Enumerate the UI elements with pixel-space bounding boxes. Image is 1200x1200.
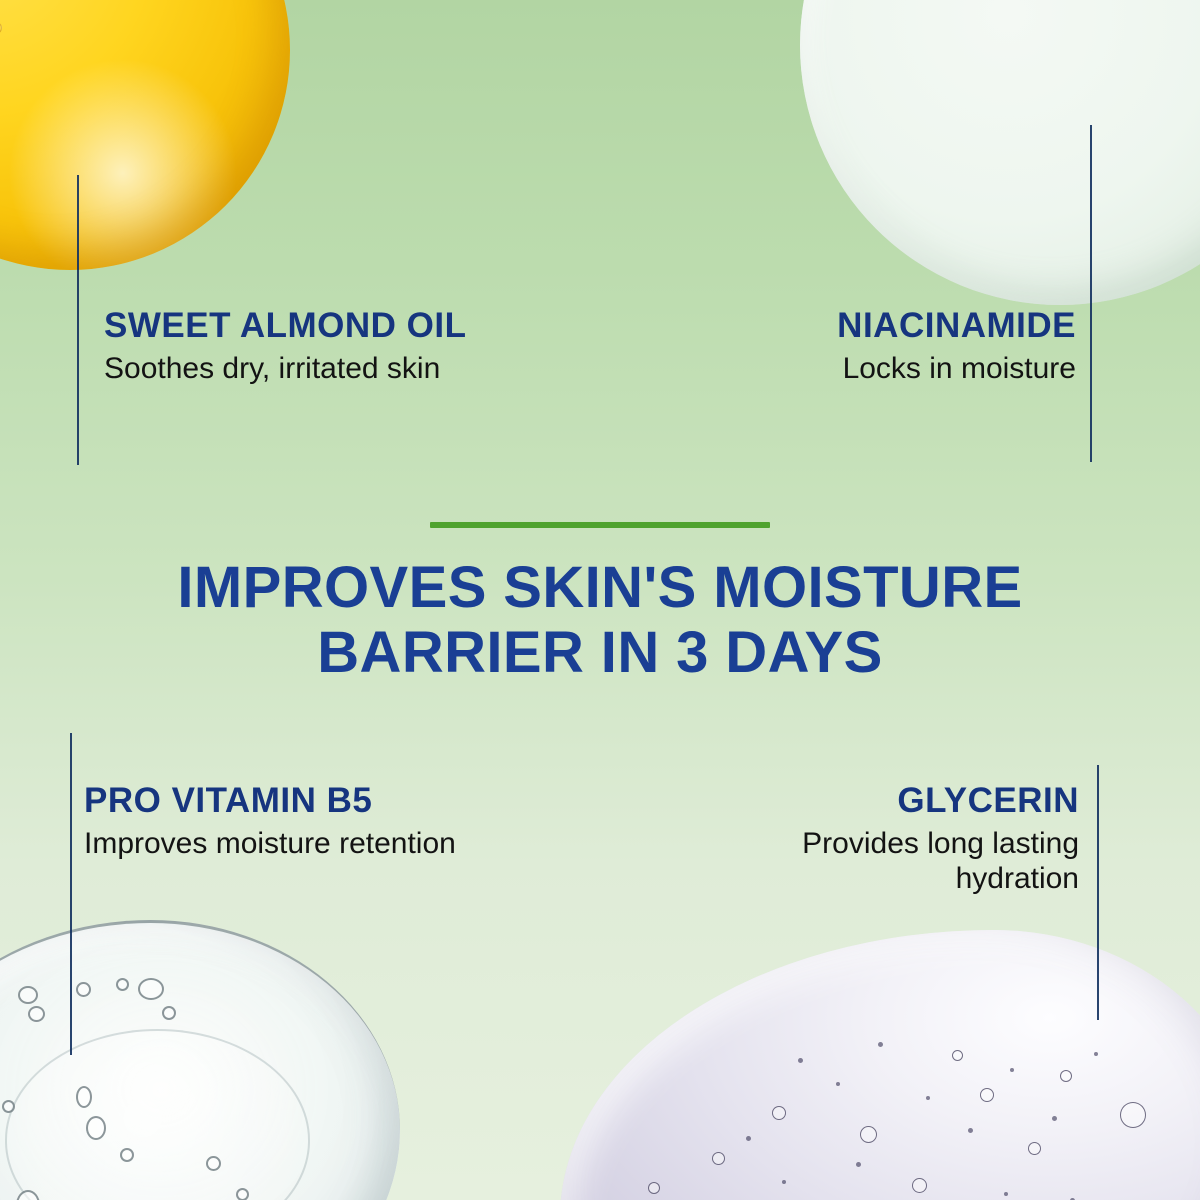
serum-bubble [712,1152,725,1165]
serum-speck [968,1128,973,1133]
gel-bubble [116,978,129,991]
gel-bubble [138,978,164,1000]
gel-bubble [28,1006,45,1022]
serum-bubble [1120,1102,1146,1128]
serum-speck [1052,1116,1057,1121]
serum-speck [836,1082,840,1086]
serum-blob-main [560,930,1200,1200]
callout-pro-vitamin-b5: PRO VITAMIN B5 Improves moisture retenti… [84,783,456,861]
headline-line-2: BARRIER IN 3 DAYS [317,620,882,685]
gel-bubble [236,1188,249,1200]
serum-bubble [980,1088,994,1102]
serum-speck [856,1162,861,1167]
callout-rule-glycerin [1097,765,1099,1020]
gel-bubble [2,1100,15,1113]
serum-speck [1004,1192,1008,1196]
callout-title-sweet-almond-oil: SWEET ALMOND OIL [104,308,467,345]
glycerin-serum-texture [560,930,1200,1200]
serum-bubble [772,1106,786,1120]
serum-speck [1010,1068,1014,1072]
serum-bubble [1060,1070,1072,1082]
callout-title-pro-vitamin-b5: PRO VITAMIN B5 [84,783,456,820]
mint-droplet-main [800,0,1200,305]
callout-title-niacinamide: NIACINAMIDE [837,308,1076,345]
serum-bubble [648,1182,660,1194]
callout-niacinamide: NIACINAMIDE Locks in moisture [837,308,1076,386]
callout-rule-niacinamide [1090,125,1092,462]
serum-speck [782,1180,786,1184]
callout-description-pro-vitamin-b5: Improves moisture retention [84,826,456,861]
serum-bubble [1028,1142,1041,1155]
gel-bubble [162,1006,176,1020]
serum-speck [746,1136,751,1141]
callout-rule-pro-vitamin-b5 [70,733,72,1055]
gel-bubble [18,986,38,1004]
serum-speck [1094,1052,1098,1056]
headline-block: IMPROVES SKIN'S MOISTURE BARRIER IN 3 DA… [0,522,1200,686]
serum-bubble [860,1126,877,1143]
callout-description-glycerin: Provides long lasting hydration [779,826,1079,897]
accent-bar [430,522,770,528]
gel-bubble [86,1116,106,1140]
gel-bubble [76,982,91,997]
serum-speck [798,1058,803,1063]
serum-speck [926,1096,930,1100]
callout-title-glycerin: GLYCERIN [779,783,1079,820]
sweet-almond-oil-droplet-texture [0,0,320,280]
headline-text: IMPROVES SKIN'S MOISTURE BARRIER IN 3 DA… [0,556,1200,686]
callout-sweet-almond-oil: SWEET ALMOND OIL Soothes dry, irritated … [104,308,467,386]
serum-bubble [912,1178,927,1193]
pro-vitamin-b5-gel-texture [0,920,400,1200]
niacinamide-droplet-texture [800,0,1200,305]
gel-bubble [206,1156,221,1171]
serum-bubble [952,1050,963,1061]
gel-bubble [76,1086,92,1108]
callout-glycerin: GLYCERIN Provides long lasting hydration [779,783,1079,897]
oil-droplet-main [0,0,290,270]
headline-line-1: IMPROVES SKIN'S MOISTURE [177,555,1022,620]
callout-rule-sweet-almond-oil [77,175,79,465]
callout-description-niacinamide: Locks in moisture [837,351,1076,386]
callout-description-sweet-almond-oil: Soothes dry, irritated skin [104,351,467,386]
gel-bubble [120,1148,134,1162]
ingredient-infographic: SWEET ALMOND OIL Soothes dry, irritated … [0,0,1200,1200]
serum-speck [878,1042,883,1047]
